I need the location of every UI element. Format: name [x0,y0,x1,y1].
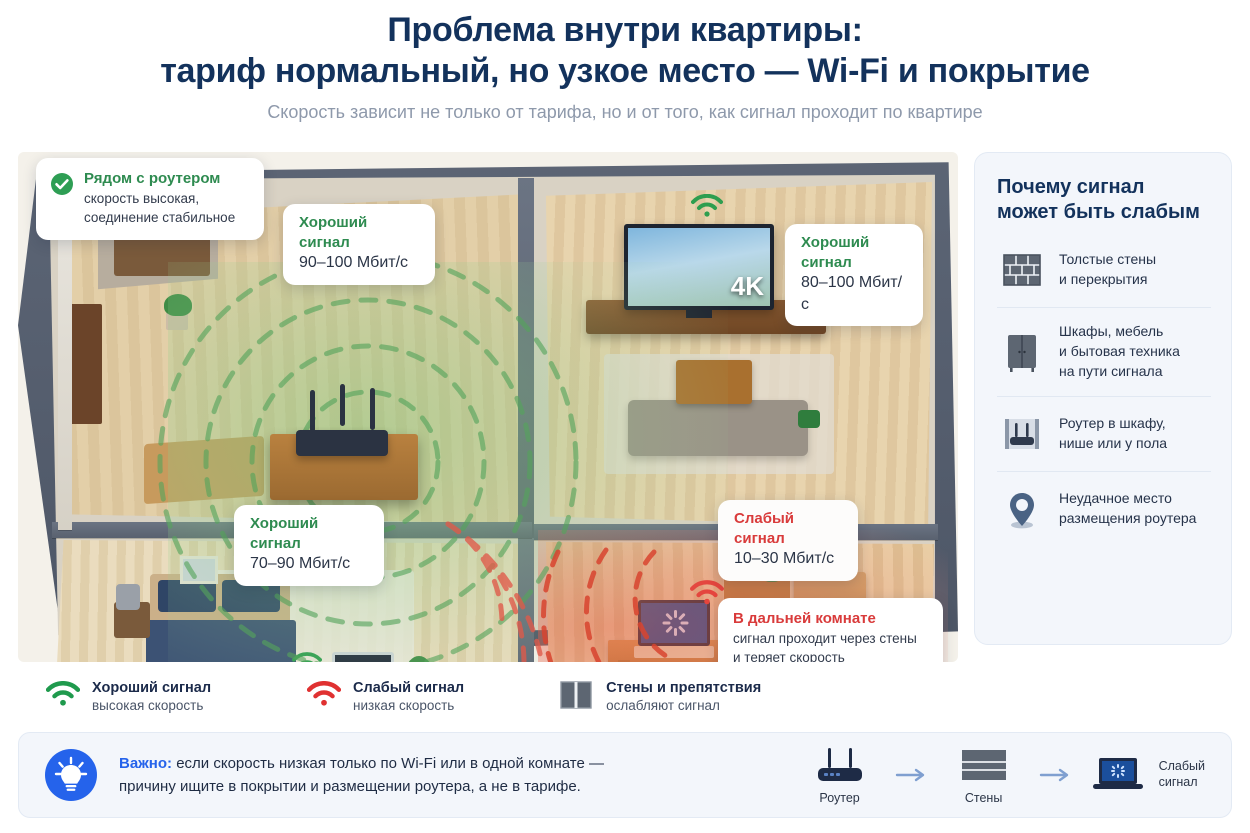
callout-value: 80–100 Мбит/с [801,272,907,315]
callout-title: Хороший сигнал [299,213,419,252]
callout-office-speed: Слабый сигнал 10–30 Мбит/с [718,500,858,581]
reason-text: Роутер в шкафу, нише или у пола [1059,414,1167,454]
router-antenna-3 [370,388,375,430]
callout-hall-speed: Хороший сигнал 90–100 Мбит/с [283,204,435,285]
footer-lead: Важно: [119,755,172,772]
callout-living-speed: Хороший сигнал 80–100 Мбит/с [785,224,923,326]
flow-node-walls: Стены [943,744,1025,807]
title-line-2: тариф нормальный, но узкое место — Wi-Fi… [0,51,1250,92]
callout-line-2: соединение стабильное [84,208,250,227]
legend-item-walls: Стены и препятствия ослабляют сигнал [560,680,761,713]
callout-title: Хороший сигнал [250,514,368,553]
wifi-green-icon [46,681,80,711]
callout-bedroom-speed: Хороший сигнал 70–90 Мбит/с [234,505,384,586]
reason-text: Неудачное место размещения роутера [1059,489,1196,529]
main-content: 4K [18,152,1232,662]
reason-bad-location: Неудачное место размещения роутера [997,471,1211,546]
callout-line-2: и теряет скорость [733,648,928,662]
apartment-floorplan: 4K [18,152,958,662]
reason-line-1: Толстые стены [1059,251,1156,267]
page-title: Проблема внутри квартиры: тариф нормальн… [0,10,1250,93]
callout-title: В дальней комнате [733,609,928,629]
coffee-table [676,360,752,404]
reason-line-2: нише или у пола [1059,435,1167,451]
callout-line-1: сигнал проходит через стены [733,629,928,648]
legend-title: Слабый сигнал [353,680,464,696]
flow-node-weak-signal: Слабый сигнал [1087,753,1205,797]
wall-vertical-bottom [518,538,534,662]
router-antenna-1 [310,390,315,432]
wall-icon [943,744,1025,788]
reason-line-2: и перекрытия [1059,271,1147,287]
panel-heading-line-1: Почему сигнал [997,176,1144,198]
panel-heading-line-2: может быть слабым [997,201,1200,223]
legend-subtitle: ослабляют сигнал [606,698,761,713]
legend-subtitle: низкая скорость [353,698,464,713]
check-circle-icon [50,172,74,196]
flow-label: Слабый сигнал [1159,759,1205,790]
why-weak-panel: Почему сигнал может быть слабым [974,152,1232,645]
reason-line-3: на пути сигнала [1059,363,1163,379]
legend-item-good-signal: Хороший сигнал высокая скорость [46,680,211,713]
hall-plant-leaf [164,294,192,316]
table-lamp [116,584,140,610]
callout-title: Слабый сигнал [734,509,842,548]
reason-line-2: и бытовая техника [1059,343,1180,359]
reason-thick-walls: Толстые стены и перекрытия [997,243,1211,307]
footer-note: Важно: если скорость низкая только по Wi… [18,732,1232,818]
reason-router-placement: Роутер в шкафу, нише или у пола [997,396,1211,471]
hall-rug [144,436,264,504]
title-line-1: Проблема внутри квартиры: [387,11,862,49]
bed-blanket [146,620,296,662]
legend-title: Хороший сигнал [92,680,211,696]
callout-title: Хороший сигнал [801,233,907,272]
brick-wall-icon [999,247,1045,293]
wall-block-icon [560,681,594,711]
reason-line-2: размещения роутера [1059,510,1196,526]
router-icon [799,744,881,788]
tv-stand-foot [686,308,712,318]
wifi-red-icon [307,681,341,711]
loading-spinner-icon [661,610,687,636]
callout-title: Рядом с роутером [84,169,250,189]
flow-node-router: Роутер [799,744,881,807]
living-small-plant [798,410,820,428]
callout-value: 70–90 Мбит/с [250,553,368,575]
callout-value: 90–100 Мбит/с [299,252,419,274]
wifi-icon-living [691,194,723,223]
wall-picture [180,556,218,584]
wall-vertical-top [518,178,534,538]
legend-item-weak-signal: Слабый сигнал низкая скорость [307,680,464,713]
desk-leg-left [618,660,630,662]
header: Проблема внутри квартиры: тариф нормальн… [0,0,1250,123]
laptop-loading-icon [1087,753,1149,797]
legend-subtitle: высокая скорость [92,698,211,713]
signal-flow-diagram: Роутер Стены [799,744,1205,807]
tv-4k-badge: 4K [731,271,764,302]
page-subtitle: Скорость зависит не только от тарифа, но… [0,102,1250,123]
reason-line-1: Неудачное место [1059,490,1172,506]
legend-text: Стены и препятствия ослабляют сигнал [606,680,761,713]
router-antenna-2 [340,384,345,426]
arrow-right-icon [1039,768,1073,782]
router-icon [999,411,1045,457]
infographic-page: Проблема внутри квартиры: тариф нормальн… [0,0,1250,833]
reason-text: Толстые стены и перекрытия [1059,250,1156,290]
lightbulb-icon [45,749,97,801]
living-sofa [628,400,808,456]
laptop-keyboard [634,646,714,658]
entry-door [68,304,102,424]
legend: Хороший сигнал высокая скорость Слабый с… [18,668,1232,724]
router-device [296,430,388,456]
monitor [332,652,394,662]
legend-title: Стены и препятствия [606,680,761,696]
wifi-icon-bedroom [292,652,322,662]
footer-text: Важно: если скорость низкая только по Wi… [119,752,604,799]
reason-text: Шкафы, мебель и бытовая техника на пути … [1059,322,1180,382]
panel-heading: Почему сигнал может быть слабым [997,175,1211,225]
flow-label: Стены [943,791,1025,807]
map-pin-icon [999,486,1045,532]
callout-near-router: Рядом с роутером скорость высокая, соеди… [36,158,264,240]
television: 4K [624,224,774,310]
legend-text: Слабый сигнал низкая скорость [353,680,464,713]
reason-furniture: Шкафы, мебель и бытовая техника на пути … [997,307,1211,396]
flow-label-line-1: Слабый [1159,759,1205,775]
reason-line-1: Роутер в шкафу, [1059,415,1166,431]
arrow-right-icon [895,768,929,782]
callout-far-room: В дальней комнате сигнал проходит через … [718,598,943,662]
legend-text: Хороший сигнал высокая скорость [92,680,211,713]
pillow-left [158,580,216,612]
footer-line-1: Важно: если скорость низкая только по Wi… [119,752,604,775]
wardrobe-icon [999,329,1045,375]
footer-text-1: если скорость низкая только по Wi-Fi или… [172,755,604,772]
callout-value: 10–30 Мбит/с [734,548,842,570]
callout-line-1: скорость высокая, [84,189,250,208]
reason-line-1: Шкафы, мебель [1059,323,1163,339]
footer-line-2: причину ищите в покрытии и размещении ро… [119,775,604,798]
flow-label-line-2: сигнал [1159,775,1205,791]
flow-label: Роутер [799,791,881,807]
